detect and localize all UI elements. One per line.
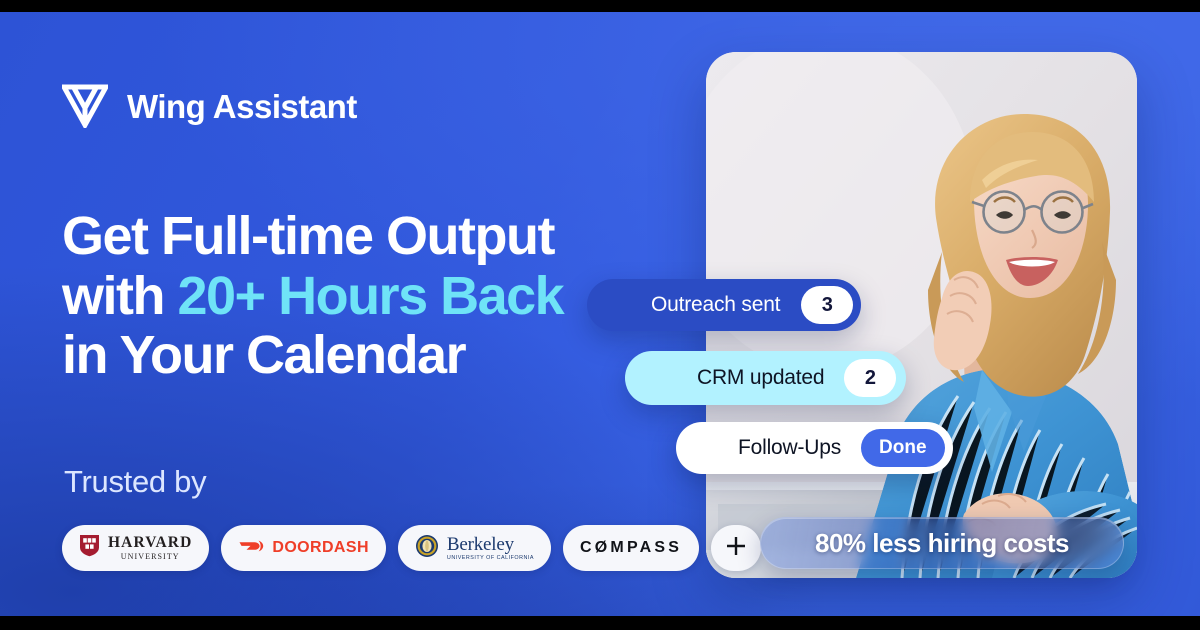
doordash-wordmark: DOORDASH <box>272 539 369 557</box>
logo-pill-more[interactable] <box>711 525 761 571</box>
logo-pill-compass[interactable]: CØMPASS <box>563 525 699 571</box>
brand-name: Wing Assistant <box>127 90 357 123</box>
harvard-subtitle: UNIVERSITY <box>121 553 180 561</box>
promo-banner: Wing Assistant Get Full-time Output with… <box>0 0 1200 630</box>
harvard-name: HARVARD <box>108 535 192 551</box>
status-label: CRM updated <box>697 366 824 390</box>
logo-pill-doordash[interactable]: DOORDASH <box>221 525 386 571</box>
compass-wordmark: CØMPASS <box>580 539 682 557</box>
status-label: Follow-Ups <box>738 436 841 460</box>
logo-pill-berkeley[interactable]: Berkeley UNIVERSITY OF CALIFORNIA <box>398 525 551 571</box>
plus-icon <box>725 535 747 562</box>
status-label: Outreach sent <box>651 293 780 317</box>
headline-line-2-prefix: with <box>62 266 177 326</box>
letterbox-bottom <box>0 616 1200 630</box>
status-badge: 3 <box>801 286 853 324</box>
harvard-shield-icon <box>79 534 100 562</box>
status-pill-crm-updated[interactable]: CRM updated 2 <box>625 351 906 405</box>
letterbox-top <box>0 0 1200 12</box>
berkeley-seal-icon <box>415 534 439 563</box>
hiring-cost-text: 80% less hiring costs <box>815 528 1069 559</box>
brand-logo[interactable]: Wing Assistant <box>62 84 357 128</box>
headline-line-1: Get Full-time Output <box>62 206 554 266</box>
status-badge: 2 <box>844 359 896 397</box>
berkeley-name: Berkeley <box>447 535 534 554</box>
blue-canvas: Wing Assistant Get Full-time Output with… <box>0 12 1200 616</box>
harvard-wordmark: HARVARD UNIVERSITY <box>108 535 192 561</box>
berkeley-wordmark: Berkeley UNIVERSITY OF CALIFORNIA <box>447 535 534 561</box>
status-pill-follow-ups[interactable]: Follow-Ups Done <box>676 422 953 474</box>
trusted-by-label: Trusted by <box>64 464 206 500</box>
headline-accent: 20+ Hours Back <box>177 266 563 326</box>
headline-line-3: in Your Calendar <box>62 325 465 385</box>
status-pill-outreach-sent[interactable]: Outreach sent 3 <box>587 279 861 331</box>
status-badge: Done <box>861 429 945 467</box>
logo-pill-harvard[interactable]: HARVARD UNIVERSITY <box>62 525 209 571</box>
trusted-logo-row: HARVARD UNIVERSITY DOORDASH <box>62 525 761 571</box>
berkeley-subtitle: UNIVERSITY OF CALIFORNIA <box>447 556 534 561</box>
doordash-swoosh-icon <box>238 537 264 560</box>
hiring-cost-banner: 80% less hiring costs <box>760 517 1124 569</box>
wing-w-triangle-logo-icon <box>62 84 108 128</box>
